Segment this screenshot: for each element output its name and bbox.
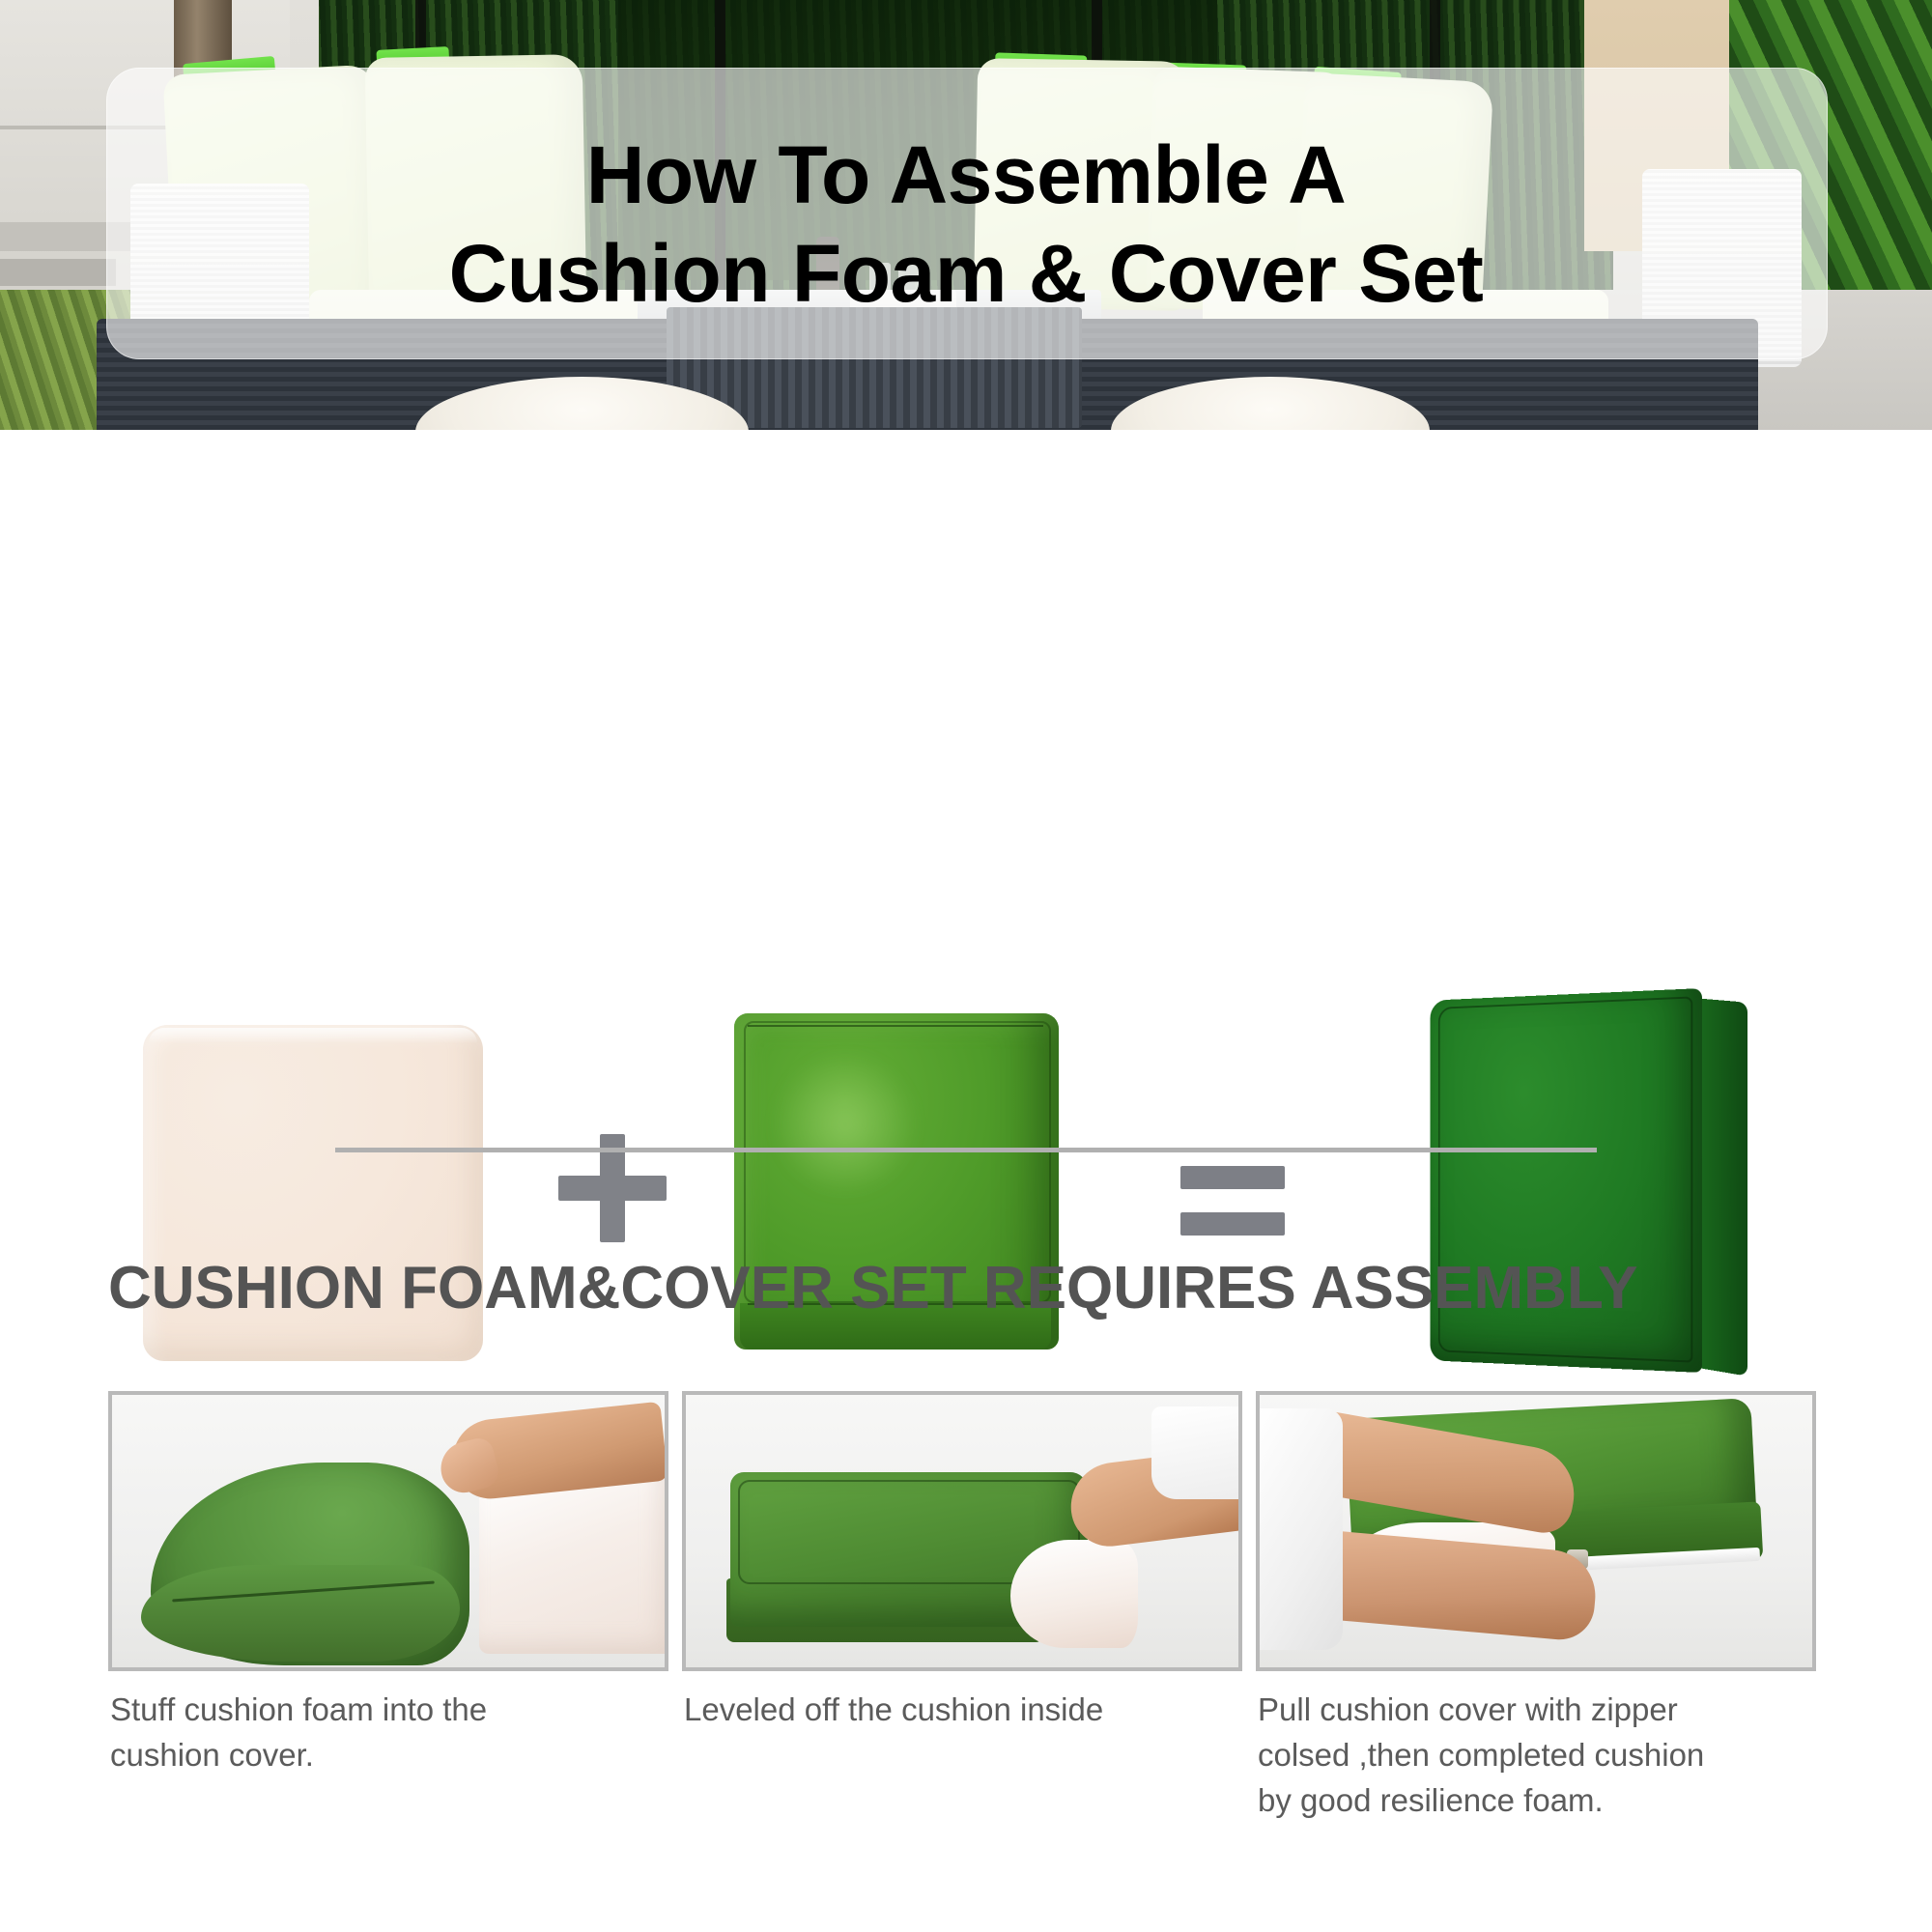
white-sleeve — [1151, 1406, 1242, 1499]
assembly-steps: Stuff cushion foam into the cushion cove… — [0, 1391, 1932, 1913]
cover-piping-top — [748, 1025, 1043, 1027]
foam-insert — [1010, 1540, 1138, 1648]
section-divider — [335, 1148, 1597, 1152]
green-cover-fold — [141, 1565, 460, 1662]
foam-insert — [479, 1470, 668, 1654]
white-sleeve — [1260, 1408, 1343, 1650]
assembly-step: Leveled off the cushion inside — [682, 1391, 1242, 1671]
assembly-step: Stuff cushion foam into the cushion cove… — [108, 1391, 668, 1671]
page-title: How To Assemble A Cushion Foam & Cover S… — [106, 126, 1826, 323]
step-photo-close-zipper — [1256, 1391, 1816, 1671]
step-caption: Pull cushion cover with zipper colsed ,t… — [1258, 1687, 1828, 1823]
cover-sheen — [773, 1052, 918, 1197]
assembly-section-heading: CUSHION FOAM&COVER SET REQUIRES ASSEMBLY — [108, 1254, 1847, 1322]
step-photo-level-cushion — [682, 1391, 1242, 1671]
background-step-lower — [0, 259, 116, 286]
step-caption: Stuff cushion foam into the cushion cove… — [110, 1687, 680, 1777]
step-caption: Leveled off the cushion inside — [684, 1687, 1254, 1732]
assembly-equation: FOAM SLIP COVER CUSHION — [0, 430, 1932, 1125]
assembly-step: Pull cushion cover with zipper colsed ,t… — [1256, 1391, 1816, 1671]
step-photo-stuff-foam — [108, 1391, 668, 1671]
hero-banner: How To Assemble A Cushion Foam & Cover S… — [0, 0, 1932, 430]
